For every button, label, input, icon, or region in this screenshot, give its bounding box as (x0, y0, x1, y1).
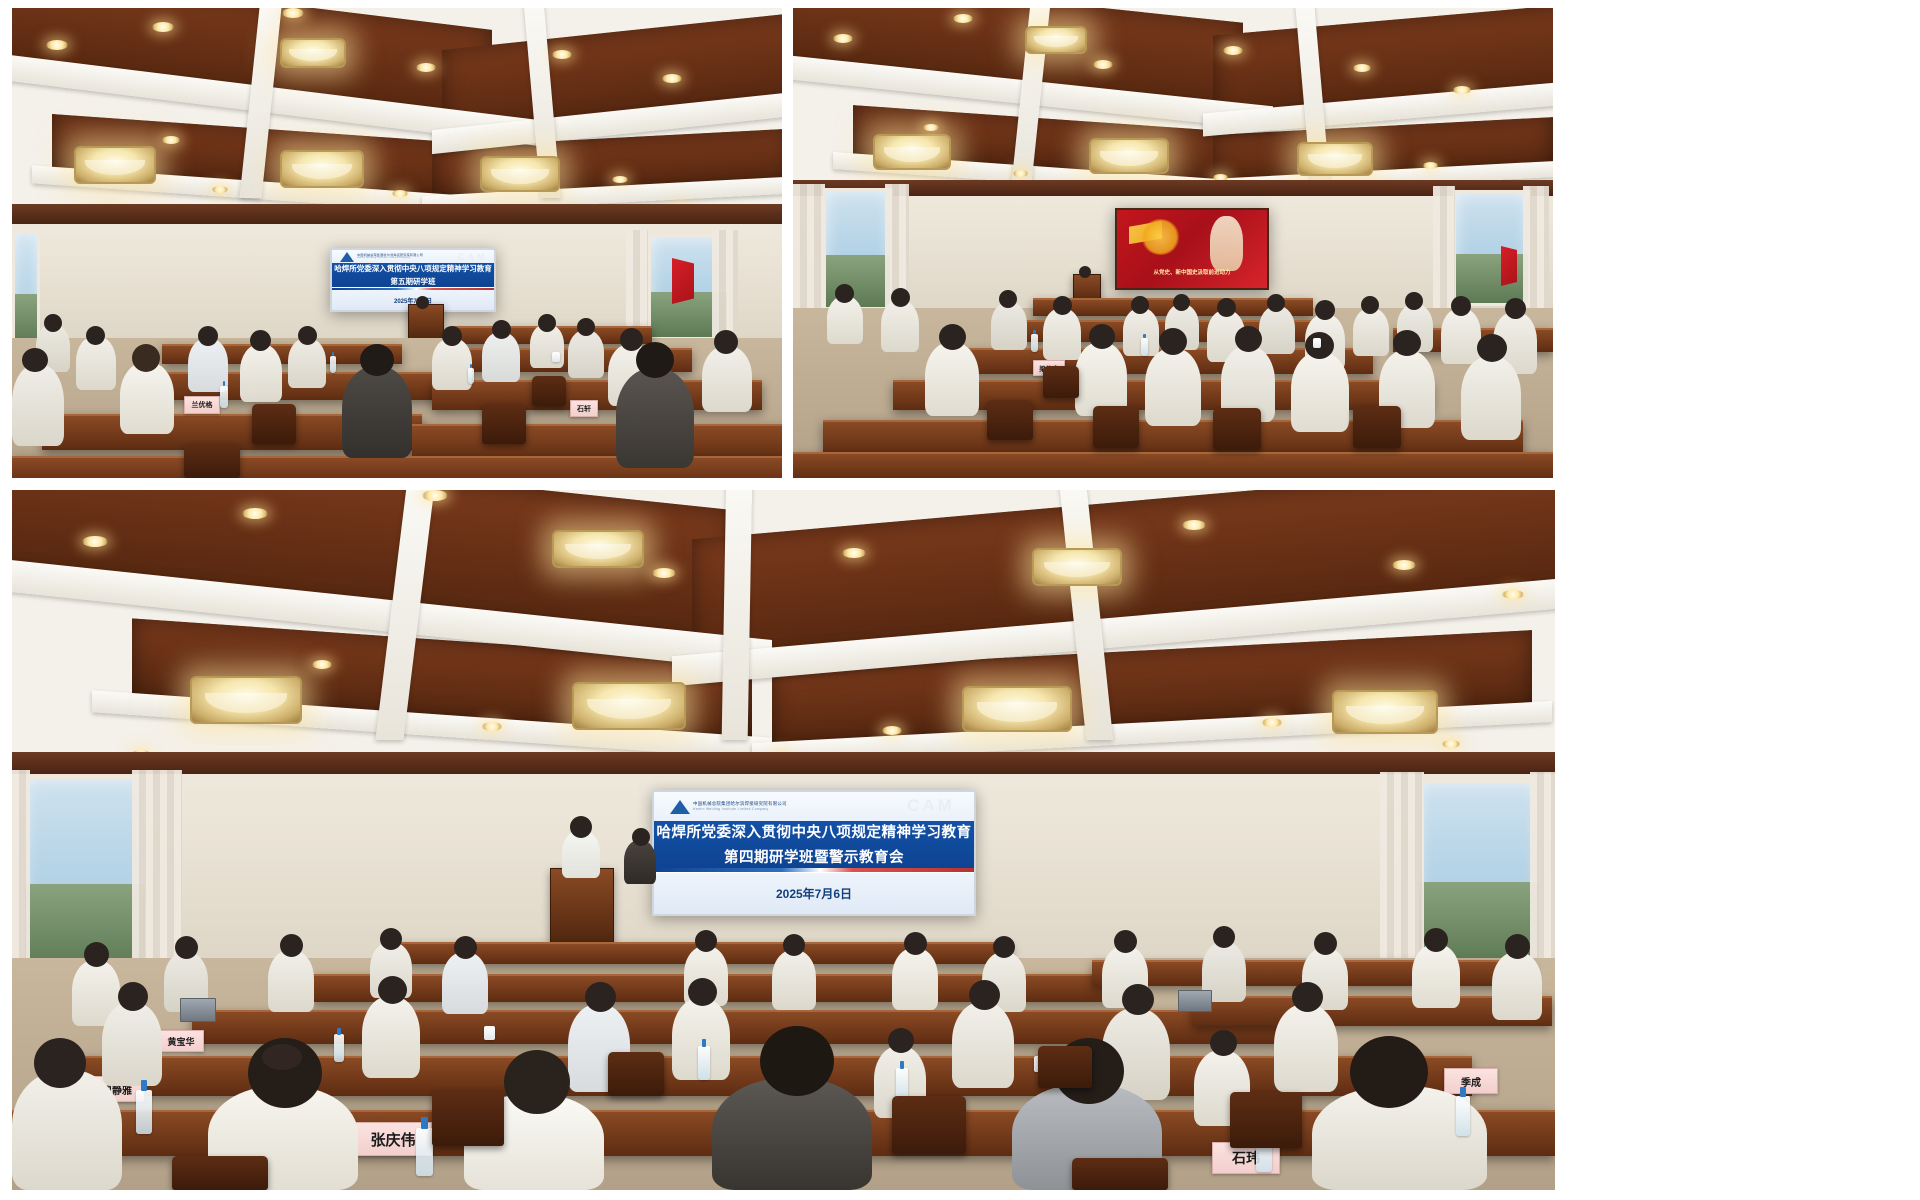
slide-title-line2: 第四期研学班暨警示教育会 (724, 846, 904, 867)
ceiling-light (962, 686, 1072, 732)
window (12, 230, 40, 346)
photo-collage: 中国机械总院集团哈尔滨焊接研究院有限公司 Harbin Welding Inst… (0, 0, 1920, 1200)
podium (550, 868, 614, 944)
slide-headline: 从党史、新中国史汲取前进动力 (1117, 268, 1267, 276)
ceiling-light (1297, 142, 1373, 176)
nameplate: 兰优格 (184, 396, 220, 414)
ceiling-light (1089, 138, 1169, 174)
slide-logo-subtext: Harbin Welding Institute Limited Company (357, 257, 423, 259)
slide-logo-subtext: Harbin Welding Institute Limited Company (693, 807, 787, 811)
slide-date: 2025年7月6日 (776, 885, 852, 902)
projection-screen: 中国机械总院集团哈尔滨焊接研究院有限公司 Harbin Welding Inst… (330, 248, 496, 312)
ceiling-light (1332, 690, 1438, 734)
ceiling-light (1025, 26, 1087, 54)
ceiling-light (480, 156, 560, 192)
ceiling-light (1032, 548, 1122, 586)
nameplate: 黄宝华 (158, 1030, 204, 1052)
projection-screen: 中国机械总院集团哈尔滨焊接研究院有限公司 Harbin Welding Inst… (652, 790, 976, 916)
laptop (180, 998, 216, 1022)
nameplate: 季成 (1444, 1068, 1498, 1094)
company-logo-icon (340, 252, 354, 262)
photo-top-right: 从党史、新中国史汲取前进动力 梁传鑫 (793, 8, 1553, 478)
window (1453, 190, 1531, 306)
ceiling-light (572, 682, 686, 730)
photo-bottom-panorama: 中国机械总院集团哈尔滨焊接研究院有限公司 Harbin Welding Inst… (12, 490, 1555, 1190)
projection-screen-red: 从党史、新中国史汲取前进动力 (1115, 208, 1269, 290)
ceiling-light (280, 38, 346, 68)
slide-title-line2: 第五期研学班 (391, 276, 436, 287)
ceiling-light (552, 530, 644, 568)
slide-watermark: CAM (907, 796, 955, 816)
flag (672, 258, 694, 304)
window (823, 188, 893, 310)
slide-title-line1: 哈焊所党委深入贯彻中央八项规定精神学习教育 (334, 263, 492, 274)
photo-top-left: 中国机械总院集团哈尔滨焊接研究院有限公司 Harbin Welding Inst… (12, 8, 782, 478)
podium (408, 304, 444, 340)
ceiling-light (190, 676, 302, 724)
slide-title-line1: 哈焊所党委深入贯彻中央八项规定精神学习教育 (657, 821, 972, 842)
slide-watermark: CAM (458, 252, 488, 262)
window (22, 776, 148, 972)
flag (1501, 246, 1517, 286)
ceiling-light (873, 134, 951, 170)
laptop (1178, 990, 1212, 1012)
ceiling-light (74, 146, 156, 184)
nameplate: 石轩 (570, 400, 598, 417)
ceiling-light (280, 150, 364, 188)
company-logo-icon (670, 800, 690, 814)
